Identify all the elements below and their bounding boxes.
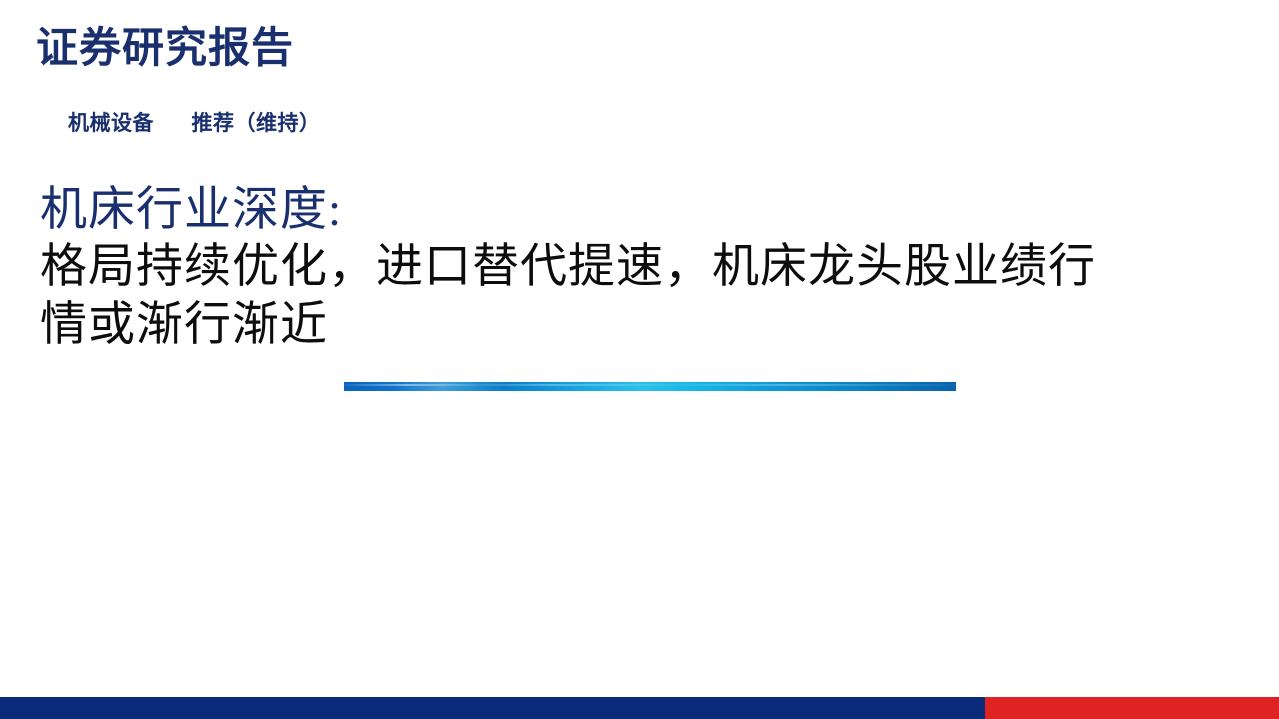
report-cover-slide: 证券研究报告 机械设备 推荐（维持） 机床行业深度: 格局持续优化，进口替代提速… xyxy=(0,0,1279,719)
footer-bar-red xyxy=(985,697,1279,719)
title-line-3: 情或渐行渐近 xyxy=(40,297,1250,354)
sector-rating-line: 机械设备 推荐（维持） xyxy=(68,107,321,137)
footer-bar-blue xyxy=(0,697,985,719)
sector-label: 机械设备 xyxy=(68,111,154,135)
gradient-divider xyxy=(344,382,956,391)
rating-label: 推荐（维持） xyxy=(192,111,321,135)
footer-band xyxy=(0,697,1279,719)
title-line-2: 格局持续优化，进口替代提速，机床龙头股业绩行 xyxy=(40,239,1250,296)
report-label: 证券研究报告 xyxy=(36,26,294,72)
page-title: 机床行业深度: 格局持续优化，进口替代提速，机床龙头股业绩行 情或渐行渐近 xyxy=(40,182,1250,354)
title-line-1: 机床行业深度: xyxy=(40,182,1250,239)
